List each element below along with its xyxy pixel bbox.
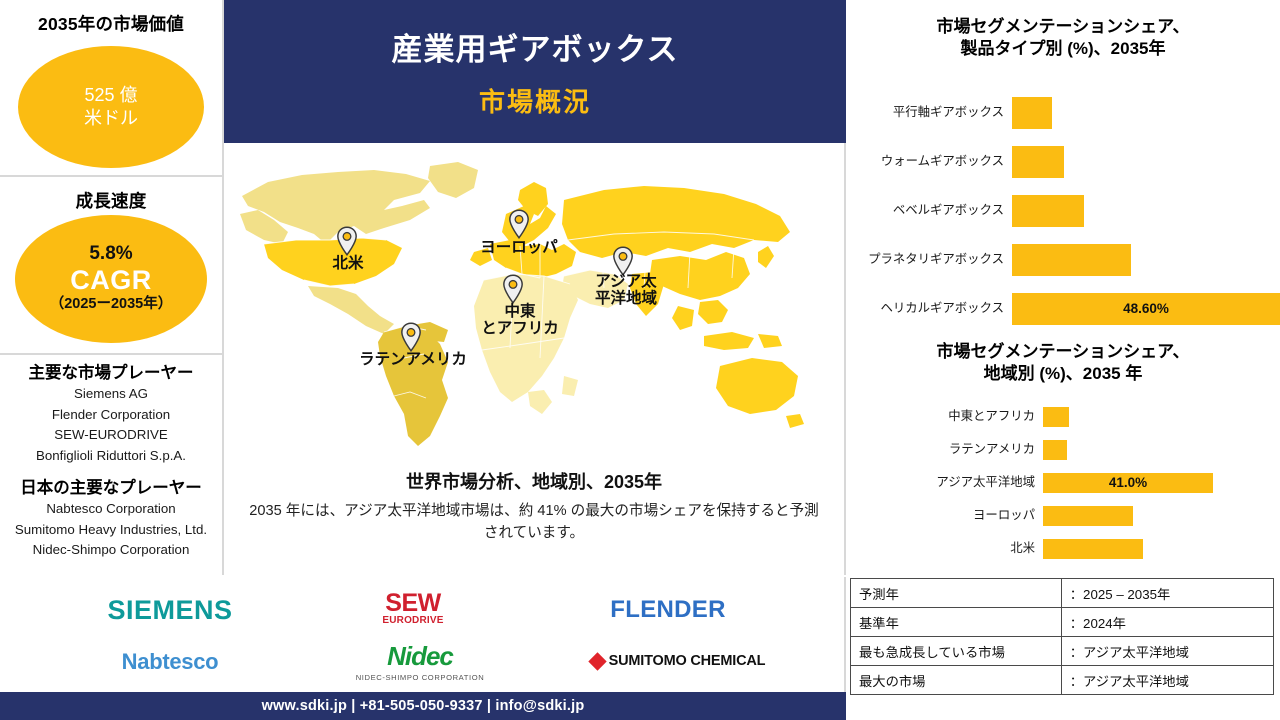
sumitomo-mark: SUMITOMO CHEMICAL bbox=[591, 653, 766, 669]
location-pin-icon bbox=[336, 226, 358, 256]
key-players-panel: 主要な市場プレーヤー Siemens AG Flender Corporatio… bbox=[0, 355, 222, 575]
table-row: 予測年：2025 – 2035年 bbox=[851, 579, 1274, 608]
chart-bar bbox=[1043, 539, 1143, 559]
player-item: Bonfiglioli Riduttori S.p.A. bbox=[0, 446, 222, 467]
market-value-bubble: 525 億 米ドル bbox=[18, 46, 204, 168]
chart-bar bbox=[1012, 244, 1131, 276]
location-pin-icon bbox=[400, 322, 422, 352]
location-pin-icon bbox=[502, 274, 524, 304]
location-pin-icon bbox=[612, 246, 634, 276]
nabtesco-logo: Nabtesco bbox=[100, 641, 240, 683]
map-pin-middle-east-africa[interactable] bbox=[502, 274, 524, 304]
market-value-heading: 2035年の市場価値 bbox=[0, 11, 222, 36]
table-cell-value: ：2025 – 2035年 bbox=[1061, 579, 1273, 608]
table-cell-value: ：2024年 bbox=[1061, 608, 1273, 637]
growth-rate-heading: 成長速度 bbox=[0, 188, 222, 213]
chart-bar bbox=[1012, 146, 1064, 178]
chart-bar-row: ヘリカルギアボックス48.60% bbox=[846, 284, 1280, 333]
chart-bar-row: ベベルギアボックス bbox=[846, 186, 1280, 235]
chart-region: 中東とアフリカラテンアメリカアジア太平洋地域41.0%ヨーロッパ北米 bbox=[846, 400, 1280, 565]
map-pin-north-america[interactable] bbox=[336, 226, 358, 256]
chart-bar-row: ヨーロッパ bbox=[846, 499, 1280, 532]
chart-bar bbox=[1043, 506, 1133, 526]
nidec-logo: Nidec NIDEC-SHIMPO CORPORATION bbox=[340, 639, 500, 683]
chart-product-type: 平行軸ギアボックスウォームギアボックスベベルギアボックスプラネタリギアボックスヘ… bbox=[846, 88, 1280, 333]
chart-bar: 41.0% bbox=[1043, 473, 1213, 493]
growth-rate-bubble: 5.8% CAGR （2025ー2035年） bbox=[15, 215, 207, 343]
player-item: Nidec-Shimpo Corporation bbox=[0, 540, 222, 561]
location-pin-icon bbox=[508, 209, 530, 239]
market-value-amount: 525 億 bbox=[84, 84, 137, 107]
player-item: Sumitomo Heavy Industries, Ltd. bbox=[0, 520, 222, 541]
chart-bar bbox=[1012, 97, 1052, 129]
map-label-latin-america: ラテンアメリカ bbox=[334, 351, 492, 368]
chart-bar-label: アジア太平洋地域 bbox=[846, 475, 1043, 491]
player-item: Nabtesco Corporation bbox=[0, 499, 222, 520]
infographic-canvas: 2035年の市場価値 525 億 米ドル 成長速度 5.8% CAGR （202… bbox=[0, 0, 1280, 720]
table-cell-key: 基準年 bbox=[851, 608, 1062, 637]
chart-bar-row: 中東とアフリカ bbox=[846, 400, 1280, 433]
chart-bar-label: 北米 bbox=[846, 541, 1043, 557]
table-cell-value: ：アジア太平洋地域 bbox=[1061, 637, 1273, 666]
map-pin-asia-pacific[interactable] bbox=[612, 246, 634, 276]
chart-bar-label: 平行軸ギアボックス bbox=[846, 105, 1012, 121]
chart-bar bbox=[1043, 407, 1069, 427]
chart-bar-label: ヨーロッパ bbox=[846, 508, 1043, 524]
cagr-period: （2025ー2035年） bbox=[50, 296, 173, 313]
diamond-icon bbox=[588, 652, 606, 670]
chart-product-type-title: 市場セグメンテーションシェア、 製品タイプ別 (%)、2035年 bbox=[854, 16, 1272, 60]
siemens-logo: SIEMENS bbox=[100, 587, 240, 633]
chart-bar-row: 平行軸ギアボックス bbox=[846, 88, 1280, 137]
cagr-percent: 5.8% bbox=[89, 244, 132, 265]
chart-bar-row: ウォームギアボックス bbox=[846, 137, 1280, 186]
world-map-graphic bbox=[234, 148, 834, 448]
table-cell-key: 最も急成長している市場 bbox=[851, 637, 1062, 666]
chart-bar-row: 北米 bbox=[846, 532, 1280, 565]
chart-bar bbox=[1043, 440, 1067, 460]
map-label-europe: ヨーロッパ bbox=[454, 239, 584, 256]
chart-bar-value: 41.0% bbox=[1043, 473, 1213, 493]
table-cell-value: ：アジア太平洋地域 bbox=[1061, 666, 1273, 695]
chart-bar-label: ヘリカルギアボックス bbox=[846, 301, 1012, 317]
growth-rate-panel: 成長速度 5.8% CAGR （2025ー2035年） bbox=[0, 177, 222, 355]
header-banner: 産業用ギアボックス 市場概況 bbox=[224, 0, 846, 143]
flender-logo: FLENDER bbox=[598, 587, 738, 633]
left-stats-column: 2035年の市場価値 525 億 米ドル 成長速度 5.8% CAGR （202… bbox=[0, 0, 224, 575]
chart-bar-row: ラテンアメリカ bbox=[846, 433, 1280, 466]
table-row: 基準年：2024年 bbox=[851, 608, 1274, 637]
footer-contact-bar: www.sdki.jp | +81-505-050-9337 | info@sd… bbox=[0, 692, 846, 720]
table-row: 最も急成長している市場：アジア太平洋地域 bbox=[851, 637, 1274, 666]
global-players-heading: 主要な市場プレーヤー bbox=[0, 359, 222, 383]
chart-bar: 48.60% bbox=[1012, 293, 1280, 325]
japan-players-heading: 日本の主要なプレーヤー bbox=[0, 474, 222, 498]
page-subtitle: 市場概況 bbox=[479, 82, 591, 119]
map-pin-europe[interactable] bbox=[508, 209, 530, 239]
map-label-middle-east-africa: 中東 とアフリカ bbox=[466, 303, 574, 338]
player-item: Siemens AG bbox=[0, 384, 222, 405]
charts-column: 市場セグメンテーションシェア、 製品タイプ別 (%)、2035年 平行軸ギアボッ… bbox=[846, 0, 1280, 577]
chart-bar-label: ウォームギアボックス bbox=[846, 154, 1012, 170]
map-caption-body: 2035 年には、アジア太平洋地域市場は、約 41% の最大の市場シェアを保持す… bbox=[246, 501, 822, 545]
chart-bar-label: ベベルギアボックス bbox=[846, 203, 1012, 219]
player-item: Flender Corporation bbox=[0, 405, 222, 426]
chart-bar-label: プラネタリギアボックス bbox=[846, 252, 1012, 268]
chart-bar-row: アジア太平洋地域41.0% bbox=[846, 466, 1280, 499]
chart-bar-label: ラテンアメリカ bbox=[846, 442, 1043, 458]
map-pin-latin-america[interactable] bbox=[400, 322, 422, 352]
table-cell-key: 予測年 bbox=[851, 579, 1062, 608]
table-row: 最大の市場：アジア太平洋地域 bbox=[851, 666, 1274, 695]
chart-bar-value: 48.60% bbox=[1012, 293, 1280, 325]
summary-table: 予測年：2025 – 2035年基準年：2024年最も急成長している市場：アジア… bbox=[850, 578, 1274, 695]
map-label-asia-pacific: アジア太 平洋地域 bbox=[579, 273, 673, 308]
partner-logos-band: SIEMENS SEW EURODRIVE FLENDER Nabtesco N… bbox=[0, 577, 846, 692]
contact-text[interactable]: www.sdki.jp | +81-505-050-9337 | info@sd… bbox=[262, 698, 585, 714]
player-item: SEW-EURODRIVE bbox=[0, 425, 222, 446]
chart-bar-row: プラネタリギアボックス bbox=[846, 235, 1280, 284]
sumitomo-logo: SUMITOMO CHEMICAL bbox=[588, 643, 768, 679]
map-caption-heading: 世界市場分析、地域別、2035年 bbox=[224, 468, 844, 494]
page-title: 産業用ギアボックス bbox=[391, 24, 678, 69]
map-label-north-america: 北米 bbox=[316, 255, 380, 272]
world-map-panel: 北米 ヨーロッパ アジア太 平洋地域 中東 とアフリカ ラテンアメリカ 世界市場… bbox=[224, 143, 846, 575]
cagr-label: CAGR bbox=[70, 265, 152, 296]
sew-logo: SEW EURODRIVE bbox=[358, 583, 468, 635]
chart-bar bbox=[1012, 195, 1084, 227]
chart-bar-label: 中東とアフリカ bbox=[846, 409, 1043, 425]
chart-region-title: 市場セグメンテーションシェア、 地域別 (%)、2035 年 bbox=[854, 341, 1272, 385]
market-value-panel: 2035年の市場価値 525 億 米ドル bbox=[0, 0, 222, 177]
market-value-currency: 米ドル bbox=[84, 107, 138, 130]
table-cell-key: 最大の市場 bbox=[851, 666, 1062, 695]
